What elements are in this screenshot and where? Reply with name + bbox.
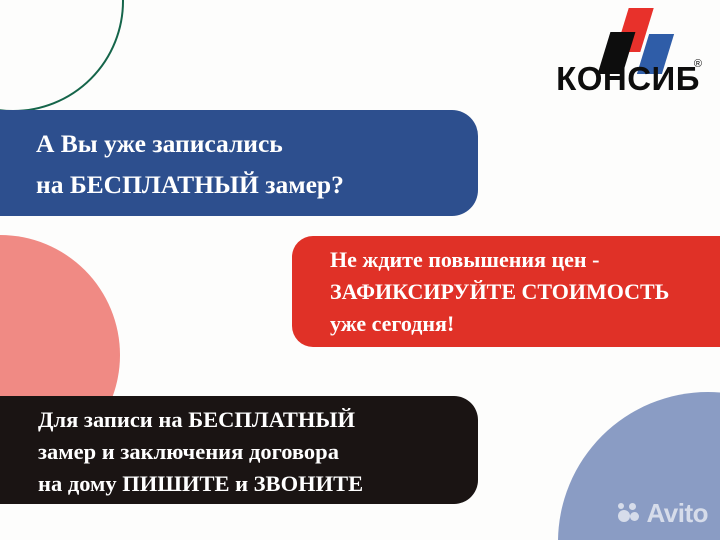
cta-black-line-1: Для записи на БЕСПЛАТНЫЙ — [38, 404, 478, 436]
brand-logo: КОНСИБ ® — [516, 6, 702, 110]
cta-box-black: Для записи на БЕСПЛАТНЫЙ замер и заключе… — [0, 396, 478, 504]
avito-dots-icon — [618, 503, 641, 523]
avito-watermark-label: Avito — [646, 500, 708, 526]
avito-watermark: Avito — [618, 500, 708, 526]
headline-box-blue: А Вы уже записались на БЕСПЛАТНЫЙ замер? — [0, 110, 478, 216]
cta-black-line-3: на дому ПИШИТЕ и ЗВОНИТЕ — [38, 468, 478, 500]
offer-red-line-1: Не ждите повышения цен - — [330, 244, 720, 276]
headline-blue-line-2: на БЕСПЛАТНЫЙ замер? — [36, 164, 478, 205]
cta-black-line-2: замер и заключения договора — [38, 436, 478, 468]
advertisement-banner: КОНСИБ ® А Вы уже записались на БЕСПЛАТН… — [0, 0, 720, 540]
offer-red-line-2: ЗАФИКСИРУЙТЕ СТОИМОСТЬ — [330, 276, 720, 308]
headline-blue-line-1: А Вы уже записались — [36, 123, 478, 164]
offer-box-red: Не ждите повышения цен - ЗАФИКСИРУЙТЕ СТ… — [292, 236, 720, 347]
registered-trademark-symbol: ® — [694, 58, 702, 70]
logo-wordmark: КОНСИБ — [516, 62, 702, 95]
green-circle-outline-decoration — [0, 0, 124, 112]
offer-red-line-3: уже сегодня! — [330, 308, 720, 340]
logo-mark-icon — [516, 6, 702, 64]
